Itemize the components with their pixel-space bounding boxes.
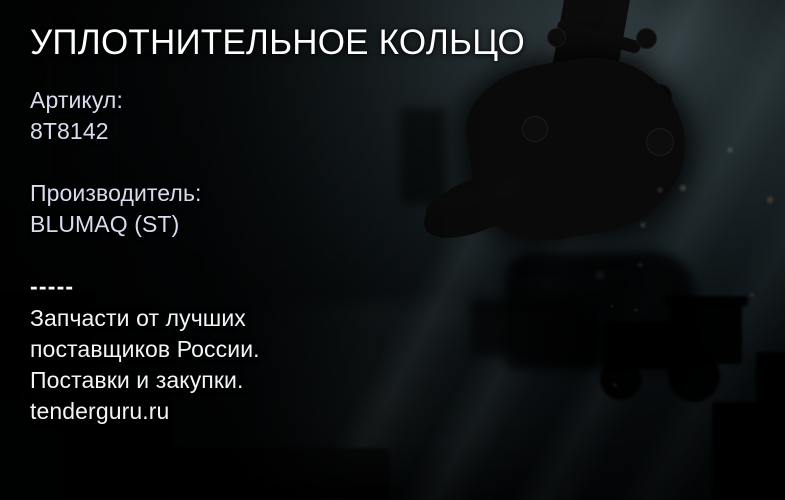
- bucket-side-pin: [646, 128, 674, 156]
- sku-value: 8T8142: [30, 116, 123, 147]
- excavator-pin-top: [547, 28, 566, 47]
- loader-bucket-silhouette: [470, 300, 590, 356]
- promo-line-1: Запчасти от лучших: [30, 303, 260, 334]
- product-banner-card: УПЛОТНИТЕЛЬНОЕ КОЛЬЦО Артикул: 8T8142 Пр…: [0, 0, 785, 500]
- promo-site-url: tenderguru.ru: [30, 396, 260, 427]
- manufacturer-value: BLUMAQ (ST): [30, 209, 202, 240]
- separator-dashes: -----: [30, 272, 74, 300]
- left-shelf-silhouette: [400, 108, 446, 204]
- tractor-rear-wheel: [668, 350, 720, 402]
- promo-line-2: поставщиков России.: [30, 334, 260, 365]
- sku-block: Артикул: 8T8142: [30, 85, 123, 147]
- manufacturer-label: Производитель:: [30, 180, 202, 206]
- promo-block: Запчасти от лучших поставщиков России. П…: [30, 303, 260, 427]
- tractor-roof-silhouette: [666, 296, 748, 306]
- tractor-front-wheel: [600, 358, 642, 400]
- promo-line-3: Поставки и закупки.: [30, 365, 260, 396]
- foreground-track-frame: [140, 448, 390, 500]
- sku-label: Артикул:: [30, 87, 123, 113]
- page-title: УПЛОТНИТЕЛЬНОЕ КОЛЬЦО: [30, 22, 525, 64]
- excavator-pin-mid: [636, 28, 657, 49]
- right-stack-silhouette: [756, 352, 785, 422]
- manufacturer-block: Производитель: BLUMAQ (ST): [30, 178, 202, 240]
- bucket-hinge-pin: [522, 116, 548, 142]
